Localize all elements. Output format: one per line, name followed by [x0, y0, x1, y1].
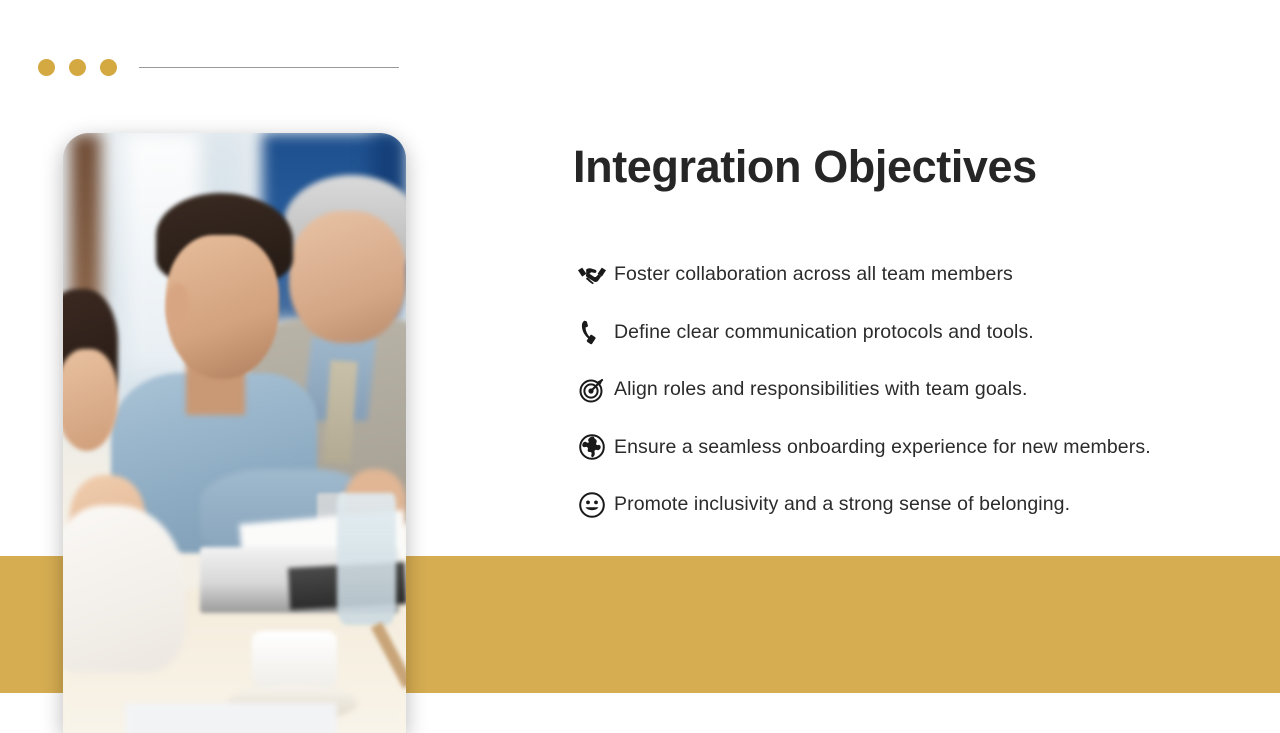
- smiley-icon: [570, 491, 614, 519]
- header-decoration: [38, 56, 399, 78]
- telephone-icon: [570, 318, 614, 346]
- objectives-list: Foster collaboration across all team mem…: [570, 246, 1250, 534]
- list-item: Ensure a seamless onboarding experience …: [570, 419, 1250, 477]
- page-title: Integration Objectives: [573, 141, 1037, 193]
- list-item: Define clear communication protocols and…: [570, 304, 1250, 362]
- list-item-label: Foster collaboration across all team mem…: [614, 263, 1013, 286]
- decor-dot-1-icon: [38, 59, 55, 76]
- list-item: Align roles and responsibilities with te…: [570, 361, 1250, 419]
- list-item-label: Ensure a seamless onboarding experience …: [614, 436, 1151, 459]
- globe-icon: [570, 433, 614, 461]
- list-item: Foster collaboration across all team mem…: [570, 246, 1250, 304]
- target-icon: [570, 376, 614, 404]
- list-item: Promote inclusivity and a strong sense o…: [570, 476, 1250, 534]
- photo-card: [63, 133, 406, 733]
- meeting-photo: [63, 133, 406, 733]
- slide-canvas: Integration Objectives Foster collaborat…: [0, 0, 1280, 720]
- list-item-label: Promote inclusivity and a strong sense o…: [614, 493, 1070, 516]
- handshake-icon: [570, 264, 614, 286]
- list-item-label: Align roles and responsibilities with te…: [614, 378, 1028, 401]
- decor-dot-2-icon: [69, 59, 86, 76]
- list-item-label: Define clear communication protocols and…: [614, 321, 1034, 344]
- decor-rule: [139, 67, 399, 68]
- decor-dot-3-icon: [100, 59, 117, 76]
